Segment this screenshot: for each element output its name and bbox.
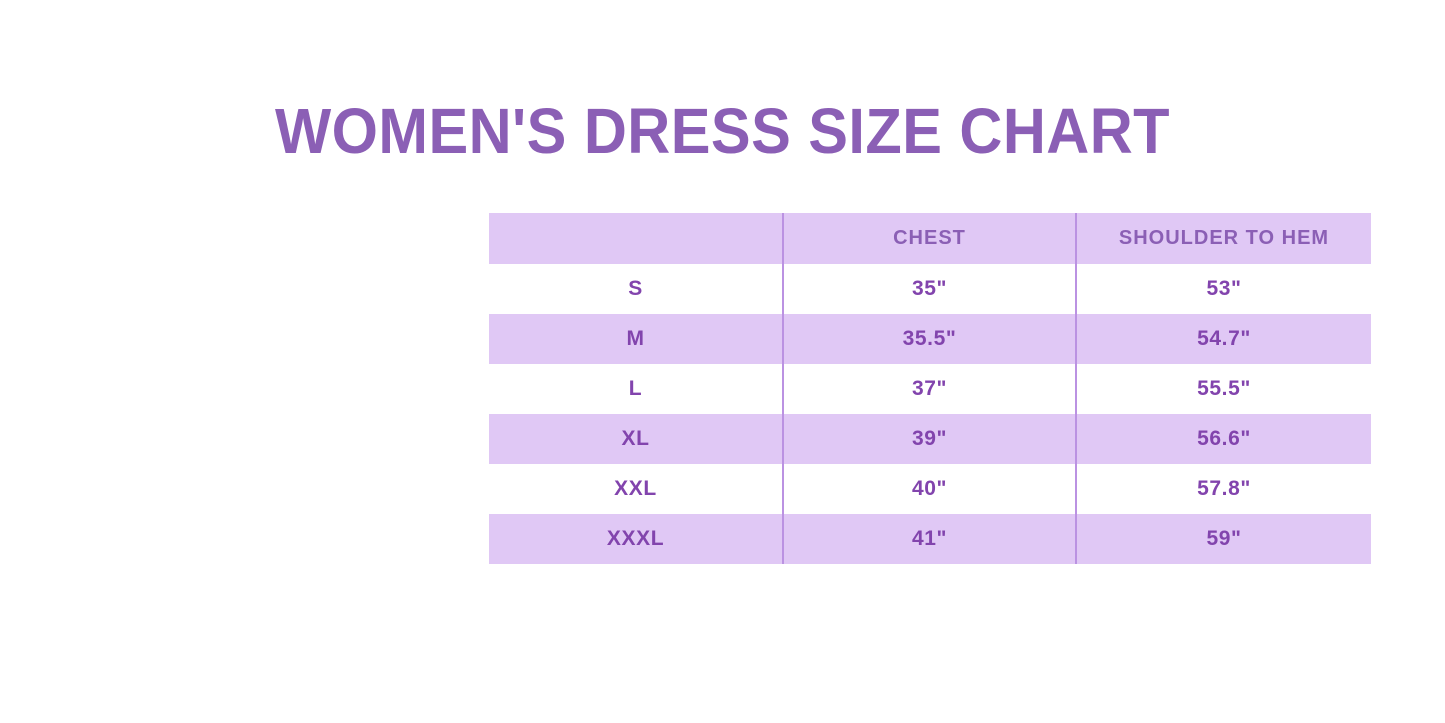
size-chart-page: WOMEN'S DRESS SIZE CHART CHEST SHOULDER … <box>0 0 1445 723</box>
cell-shoulder-to-hem: 54.7" <box>1076 314 1371 364</box>
column-header-shoulder-to-hem: SHOULDER TO HEM <box>1076 213 1371 264</box>
table-row: XL 39" 56.6" <box>489 414 1371 464</box>
cell-chest: 35" <box>783 264 1076 314</box>
cell-chest: 35.5" <box>783 314 1076 364</box>
table-row: S 35" 53" <box>489 264 1371 314</box>
cell-shoulder-to-hem: 56.6" <box>1076 414 1371 464</box>
cell-size: XL <box>489 414 783 464</box>
cell-chest: 40" <box>783 464 1076 514</box>
cell-size: XXXL <box>489 514 783 564</box>
cell-size: XXL <box>489 464 783 514</box>
column-header-chest: CHEST <box>783 213 1076 264</box>
table-header: CHEST SHOULDER TO HEM <box>489 213 1371 264</box>
size-chart-table: CHEST SHOULDER TO HEM S 35" 53" M 35.5" … <box>489 213 1371 564</box>
cell-size: S <box>489 264 783 314</box>
table-header-row: CHEST SHOULDER TO HEM <box>489 213 1371 264</box>
cell-chest: 39" <box>783 414 1076 464</box>
cell-size: L <box>489 364 783 414</box>
column-header-size <box>489 213 783 264</box>
table-row: XXL 40" 57.8" <box>489 464 1371 514</box>
cell-size: M <box>489 314 783 364</box>
table-row: L 37" 55.5" <box>489 364 1371 414</box>
page-title: WOMEN'S DRESS SIZE CHART <box>51 99 1395 163</box>
cell-shoulder-to-hem: 55.5" <box>1076 364 1371 414</box>
cell-shoulder-to-hem: 59" <box>1076 514 1371 564</box>
table-row: M 35.5" 54.7" <box>489 314 1371 364</box>
cell-chest: 37" <box>783 364 1076 414</box>
table-body: S 35" 53" M 35.5" 54.7" L 37" 55.5" XL 3… <box>489 264 1371 564</box>
table-row: XXXL 41" 59" <box>489 514 1371 564</box>
cell-shoulder-to-hem: 53" <box>1076 264 1371 314</box>
cell-chest: 41" <box>783 514 1076 564</box>
cell-shoulder-to-hem: 57.8" <box>1076 464 1371 514</box>
